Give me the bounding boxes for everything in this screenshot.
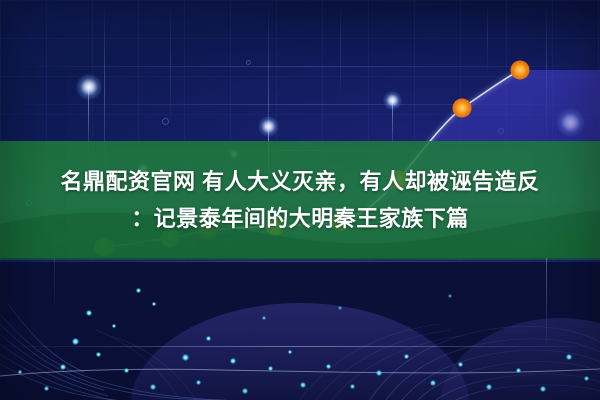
particle-dot xyxy=(376,370,382,376)
mesh-wave-decor xyxy=(0,258,600,400)
particle-dot xyxy=(206,336,211,341)
particle-dot xyxy=(242,388,248,394)
particle-dot xyxy=(136,288,141,293)
particle-dot xyxy=(566,354,572,360)
particle-dot xyxy=(584,376,589,381)
particle-dot xyxy=(338,306,342,310)
sweep-line xyxy=(0,261,600,262)
title-wrap: 名鼎配资官网 有人大义灭亲，有人却被诬告造反 ：记景泰年间的大明秦王家族下篇 xyxy=(0,163,600,237)
particle-dot xyxy=(268,366,273,371)
particle-dot xyxy=(458,362,463,367)
chart-marker xyxy=(511,61,530,80)
particle-dot xyxy=(448,294,452,298)
particle-dot xyxy=(230,358,236,364)
sweep-line xyxy=(0,346,600,347)
particle-dot xyxy=(288,350,292,354)
particle-dot xyxy=(150,384,156,390)
particle-dot xyxy=(350,384,355,389)
particle-dot xyxy=(60,364,66,370)
particle-dot xyxy=(300,382,306,388)
particle-dot xyxy=(152,302,156,306)
particle-dot xyxy=(96,352,101,357)
particle-dot xyxy=(486,384,492,390)
particle-dot xyxy=(86,310,92,316)
title-banner-band: 名鼎配资官网 有人大义灭亲，有人却被诬告造反 ：记景泰年间的大明秦王家族下篇 xyxy=(0,141,600,258)
particle-dot xyxy=(516,368,521,373)
vertical-edge-line xyxy=(546,258,547,350)
particle-dot xyxy=(112,324,116,328)
particle-dot xyxy=(72,338,79,345)
particle-dot xyxy=(44,386,49,391)
vertical-edge-line xyxy=(54,258,55,318)
particle-dot xyxy=(404,354,409,359)
particle-dot xyxy=(18,370,22,374)
chart-marker xyxy=(453,99,472,118)
particle-dot xyxy=(196,380,201,385)
banner-title-line-2: ：记景泰年间的大明秦王家族下篇 xyxy=(8,200,592,237)
particle-dot xyxy=(124,368,129,373)
particle-dot xyxy=(540,386,546,392)
banner-title-line-1: 名鼎配资官网 有人大义灭亲，有人却被诬告造反 xyxy=(8,163,592,200)
bottom-background-panel xyxy=(0,258,600,400)
particle-dot xyxy=(262,316,266,320)
particle-dot xyxy=(430,380,436,386)
banner-image: 名鼎配资官网 有人大义灭亲，有人却被诬告造反 ：记景泰年间的大明秦王家族下篇 xyxy=(0,0,600,400)
particle-dot xyxy=(182,354,189,361)
particle-dot xyxy=(326,364,331,369)
